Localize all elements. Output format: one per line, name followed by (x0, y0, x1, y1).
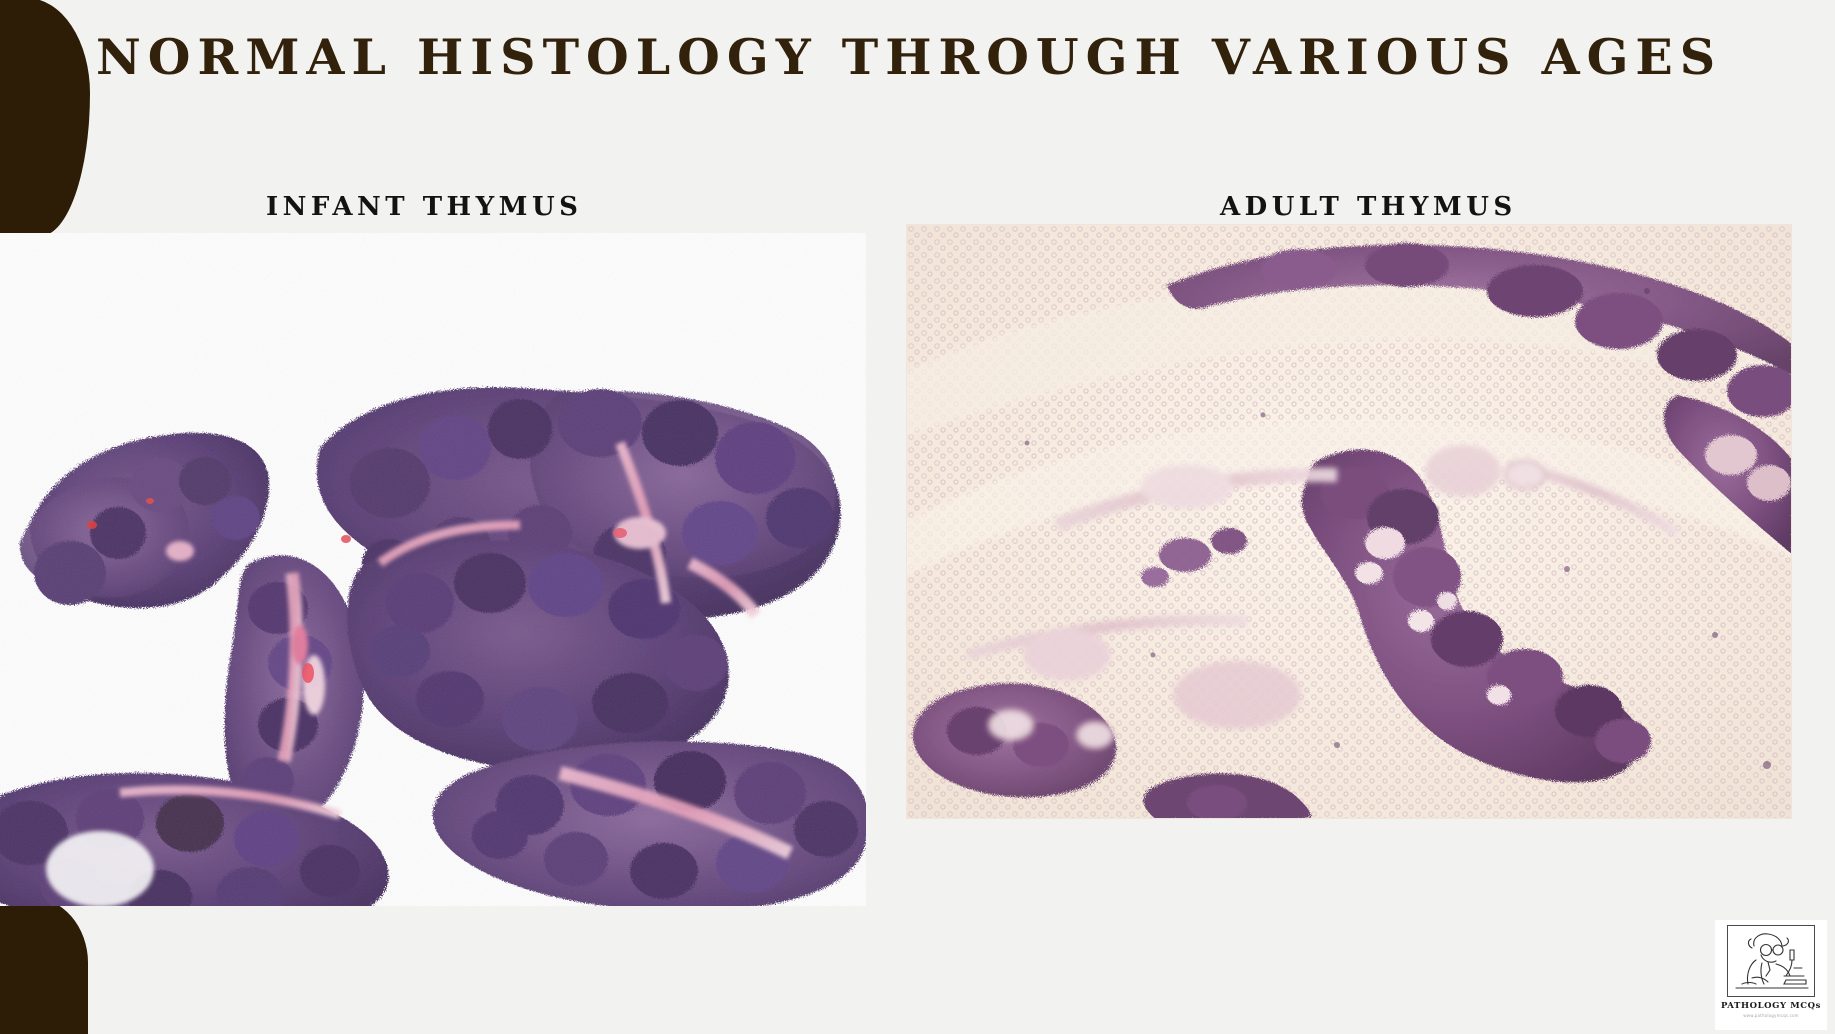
wavy-brown-shape-bottom (0, 897, 88, 1034)
infant-thymus-micrograph (0, 233, 866, 906)
adult-thymus-micrograph (906, 224, 1792, 819)
logo-url: www.pathologymcqs.com (1743, 1013, 1798, 1018)
logo-caption: PATHOLOGY MCQs (1721, 1001, 1821, 1011)
caption-adult-thymus: ADULT THYMUS (1220, 192, 1517, 222)
wavy-brown-shape-top (0, 0, 90, 236)
infant-thymus-tissue (0, 233, 866, 906)
page-title: NORMAL HISTOLOGY THROUGH VARIOUS AGES (96, 28, 1722, 86)
caption-infant-thymus: INFANT THYMUS (266, 192, 582, 222)
microscope-cartoon-icon (1727, 925, 1815, 997)
adult-thymus-tissue (907, 225, 1792, 819)
pathology-mcqs-logo: PATHOLOGY MCQs www.pathologymcqs.com (1715, 920, 1827, 1030)
